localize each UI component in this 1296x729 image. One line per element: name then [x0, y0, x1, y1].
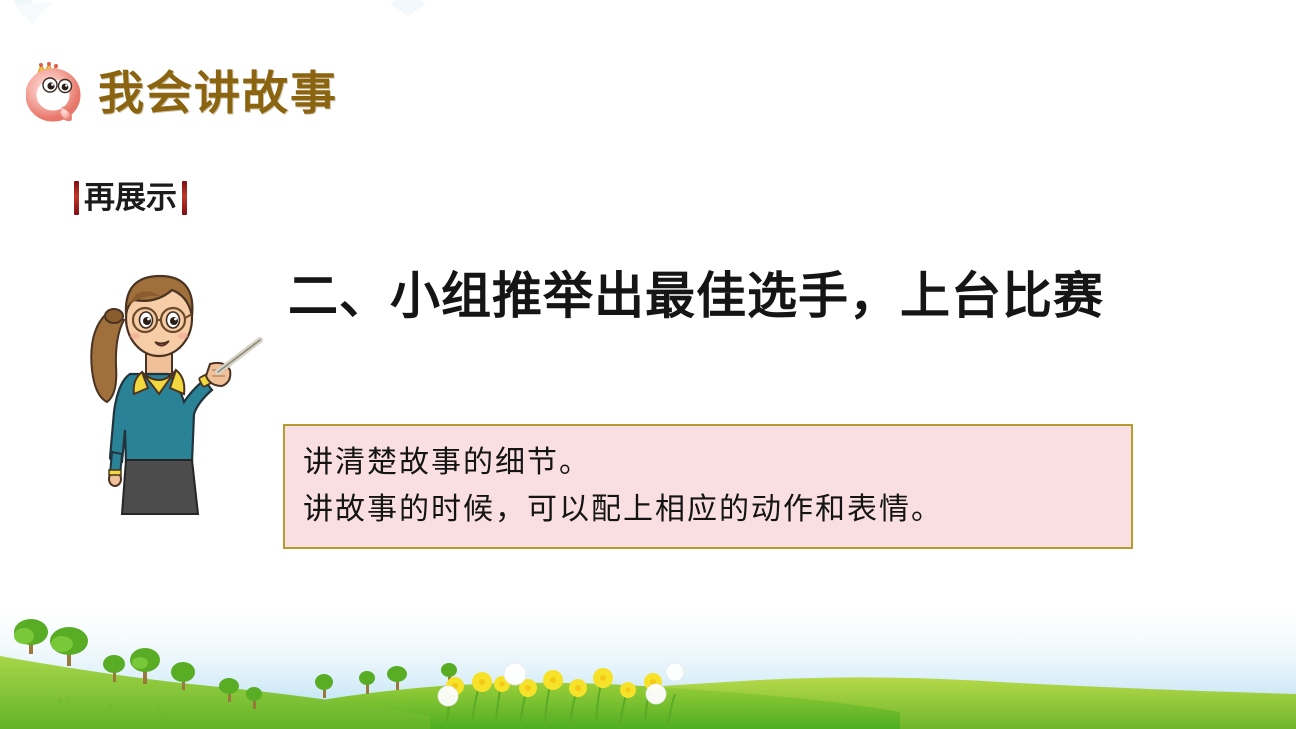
- green-hills-scenery: [0, 594, 1296, 729]
- note-line: 讲清楚故事的细节。: [303, 440, 1113, 487]
- main-heading: 二、小组推举出最佳选手，上台比赛: [288, 268, 1104, 326]
- slide-canvas: 我会讲故事 再展示: [0, 0, 1296, 729]
- section-label: 再展示: [74, 176, 187, 220]
- q-mascot-icon: [26, 62, 84, 124]
- section-label-text: 再展示: [79, 183, 182, 214]
- page-title: 我会讲故事: [98, 70, 338, 116]
- slide-header: 我会讲故事: [26, 62, 338, 124]
- top-decoration-icon: [6, 0, 76, 34]
- teacher-pointing-icon: [72, 262, 267, 517]
- top-decoration-icon: [378, 0, 438, 30]
- label-bar-right-icon: [182, 181, 187, 215]
- note-line: 讲故事的时候，可以配上相应的动作和表情。: [303, 487, 1113, 534]
- note-box: 讲清楚故事的细节。 讲故事的时候，可以配上相应的动作和表情。: [283, 424, 1133, 549]
